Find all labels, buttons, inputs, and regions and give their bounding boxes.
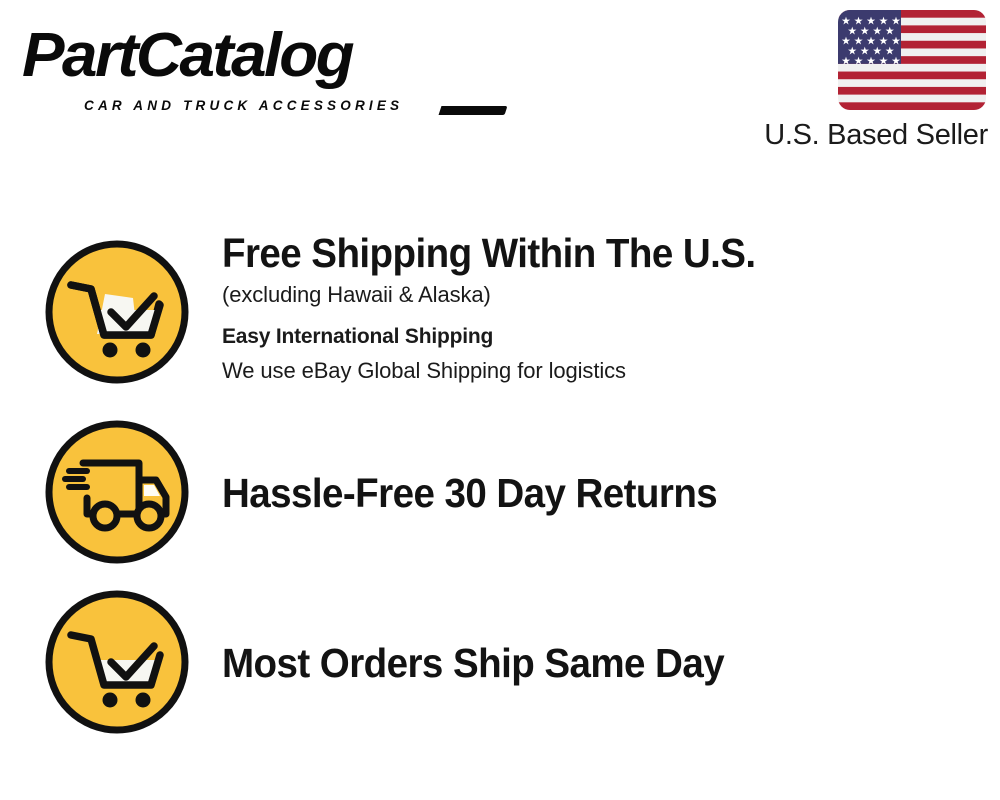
feature-list: Free Shipping Within The U.S. (excluding… [0, 170, 1000, 800]
feature-subline-strong: Easy International Shipping [222, 320, 962, 354]
feature-text-block: Free Shipping Within The U.S. (excluding… [222, 228, 962, 388]
feature-row: Free Shipping Within The U.S. (excluding… [0, 228, 1000, 400]
brand-underline-swash-icon [439, 106, 508, 115]
brand-logo[interactable]: PartCatalog CAR AND TRUCK ACCESSORIES [22, 24, 502, 116]
feature-row: Hassle-Free 30 Day Returns [0, 418, 1000, 578]
feature-text-block: Most Orders Ship Same Day [222, 638, 962, 688]
shopping-cart-check-icon [43, 238, 191, 386]
feature-text-block: Hassle-Free 30 Day Returns [222, 468, 962, 518]
spacer [222, 312, 962, 320]
page-header: PartCatalog CAR AND TRUCK ACCESSORIES [0, 0, 1000, 170]
feature-subline: We use eBay Global Shipping for logistic… [222, 354, 962, 388]
feature-row: Most Orders Ship Same Day [0, 588, 1000, 748]
brand-wordmark: PartCatalog [22, 20, 352, 92]
delivery-truck-icon [43, 418, 191, 566]
feature-subline: (excluding Hawaii & Alaska) [222, 278, 962, 312]
brand-tagline: CAR AND TRUCK ACCESSORIES [84, 98, 403, 113]
us-flag-icon [838, 10, 986, 110]
feature-headline: Most Orders Ship Same Day [222, 638, 918, 688]
feature-headline: Free Shipping Within The U.S. [222, 228, 918, 278]
us-based-seller-label: U.S. Based Seller [700, 119, 988, 152]
shopping-cart-check-icon [43, 588, 191, 736]
feature-headline: Hassle-Free 30 Day Returns [222, 468, 918, 518]
